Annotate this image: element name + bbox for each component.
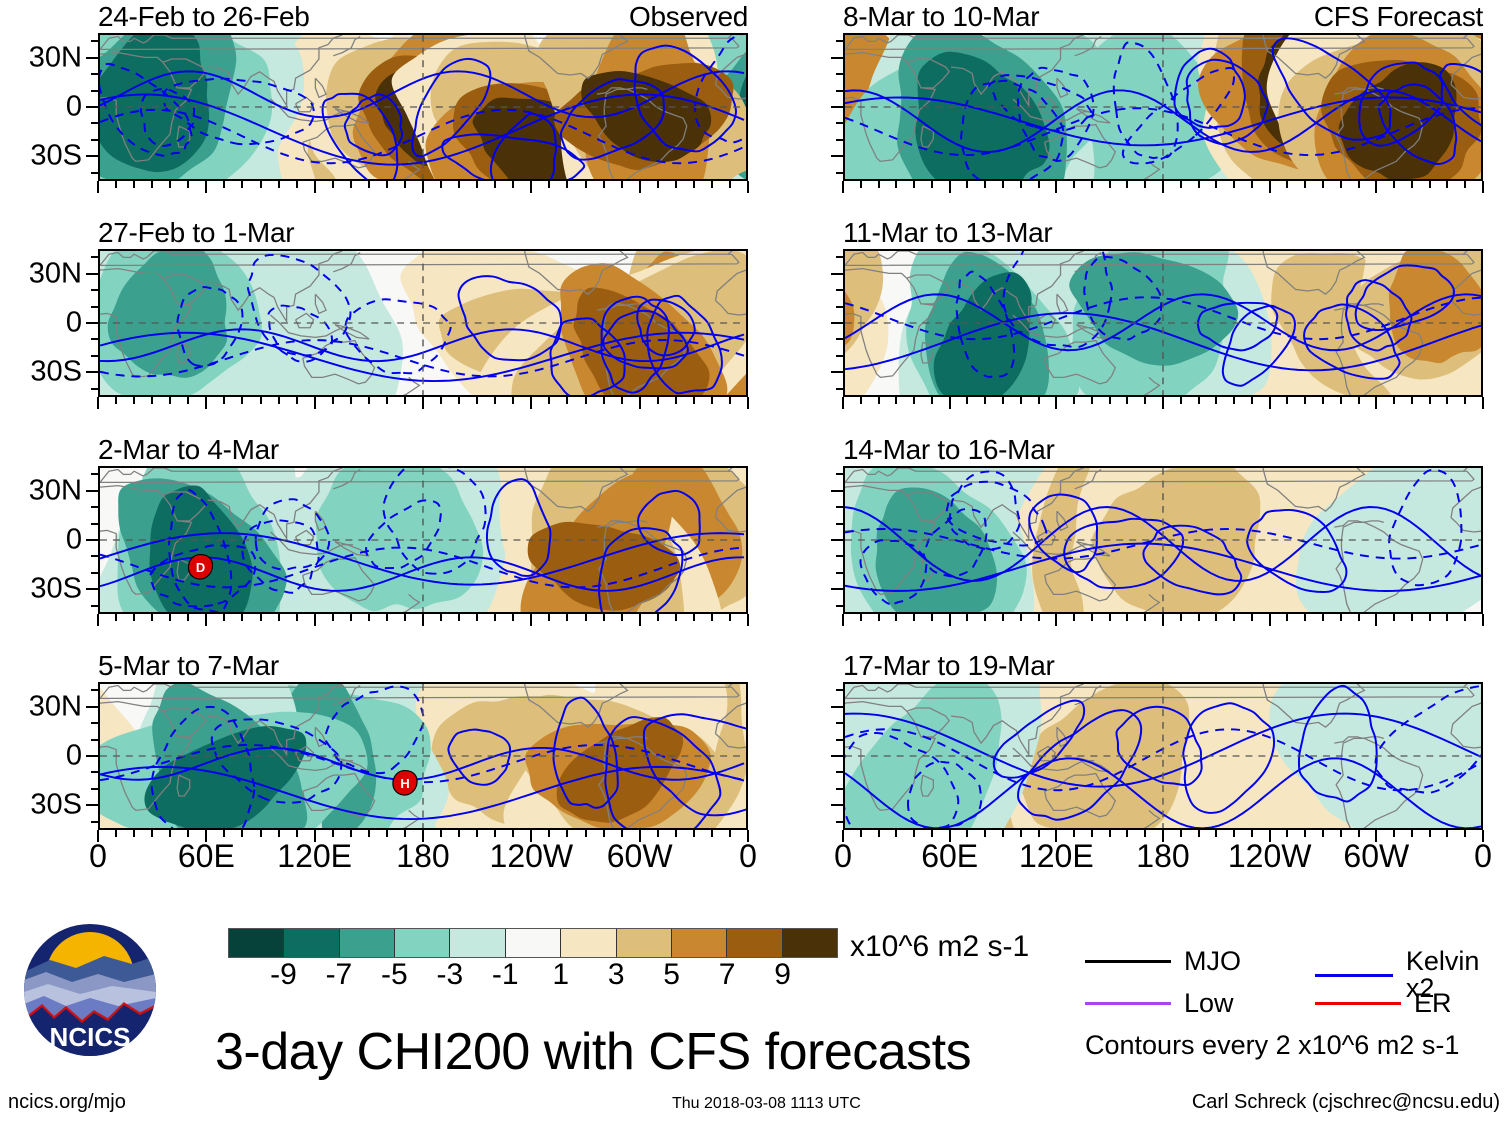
y-tick: [836, 572, 843, 574]
map-panel-fcst-1: 8-Mar to 10-MarCFS Forecast: [843, 33, 1483, 181]
y-axis-label: 30N: [29, 692, 82, 721]
x-tick: [1073, 830, 1075, 837]
x-tick: [1109, 614, 1111, 621]
x-tick: [639, 397, 641, 409]
x-tick: [314, 397, 316, 409]
x-tick: [350, 397, 352, 404]
x-tick: [278, 614, 280, 621]
x-tick: [603, 614, 605, 621]
x-tick: [1251, 397, 1253, 404]
y-tick: [86, 539, 98, 541]
x-tick: [386, 397, 388, 404]
y-tick: [91, 139, 98, 141]
y-tick: [91, 739, 98, 741]
x-tick: [675, 614, 677, 621]
x-tick: [1322, 830, 1324, 837]
x-tick: [639, 614, 641, 626]
x-tick: [931, 397, 933, 404]
x-tick: [1020, 181, 1022, 188]
x-tick: [404, 614, 406, 621]
x-tick: [1482, 397, 1484, 409]
x-tick: [422, 181, 424, 193]
x-tick: [332, 614, 334, 621]
y-axis-label: 30N: [29, 259, 82, 288]
x-tick: [1286, 397, 1288, 404]
x-tick: [1322, 397, 1324, 404]
x-tick: [241, 614, 243, 621]
x-tick: [1429, 397, 1431, 404]
y-tick: [86, 322, 98, 324]
y-tick: [91, 256, 98, 258]
x-tick: [1091, 397, 1093, 404]
x-tick: [693, 830, 695, 837]
colorbar-tick: -9: [270, 960, 297, 990]
x-tick: [966, 830, 968, 837]
x-tick: [657, 397, 659, 404]
x-tick: [1198, 830, 1200, 837]
colorbar-segment: [450, 929, 505, 957]
x-tick: [729, 614, 731, 621]
x-tick: [1251, 830, 1253, 837]
x-tick: [949, 614, 951, 626]
colorbar-tick-labels: -9-7-5-3-113579: [228, 958, 838, 992]
x-tick: [1482, 614, 1484, 626]
x-tick: [1304, 397, 1306, 404]
y-tick: [91, 122, 98, 124]
x-tick: [1091, 830, 1093, 837]
x-tick: [621, 614, 623, 621]
y-tick: [91, 771, 98, 773]
x-tick: [1375, 614, 1377, 626]
x-tick: [1322, 181, 1324, 188]
x-tick: [1340, 181, 1342, 188]
y-tick: [836, 289, 843, 291]
x-tick: [260, 830, 262, 837]
x-tick: [585, 614, 587, 621]
y-axis-label: 30S: [30, 142, 82, 171]
x-tick: [512, 397, 514, 404]
x-tick: [151, 614, 153, 621]
y-tick: [836, 122, 843, 124]
x-tick: [711, 830, 713, 837]
x-tick: [278, 397, 280, 404]
colorbar-tick: 5: [663, 960, 680, 990]
x-tick: [530, 181, 532, 193]
x-tick: [984, 614, 986, 621]
x-tick: [1233, 614, 1235, 621]
x-tick: [1233, 830, 1235, 837]
plot-area-fcst-1: [843, 33, 1483, 181]
x-axis-label: 180: [396, 840, 449, 872]
x-tick: [1109, 397, 1111, 404]
x-tick: [332, 181, 334, 188]
x-tick: [711, 397, 713, 404]
x-tick: [1162, 181, 1164, 193]
x-axis-label: 120E: [1019, 840, 1094, 872]
x-tick: [386, 830, 388, 837]
x-tick: [1286, 614, 1288, 621]
x-tick: [566, 830, 568, 837]
x-tick: [1304, 830, 1306, 837]
y-tick: [91, 821, 98, 823]
footer-timestamp: Thu 2018-03-08 1113 UTC: [672, 1096, 861, 1112]
y-tick: [91, 523, 98, 525]
x-tick: [1020, 830, 1022, 837]
x-axis-label: 60W: [607, 840, 673, 872]
x-tick: [187, 830, 189, 837]
page-title: 3-day CHI200 with CFS forecasts: [215, 1026, 971, 1078]
x-tick: [458, 181, 460, 188]
x-tick: [675, 830, 677, 837]
x-tick: [187, 397, 189, 404]
x-tick: [494, 181, 496, 188]
panel-title-fcst-1: 8-Mar to 10-Mar: [843, 2, 1039, 33]
panel-title-obs-3: 2-Mar to 4-Mar: [98, 435, 279, 466]
y-tick: [86, 755, 98, 757]
x-axis-label: 60W: [1343, 840, 1409, 872]
x-tick: [133, 614, 135, 621]
y-tick: [836, 256, 843, 258]
plot-area-fcst-2: [843, 249, 1483, 397]
x-tick: [913, 830, 915, 837]
x-tick: [878, 397, 880, 404]
x-tick: [1002, 614, 1004, 621]
y-tick: [836, 355, 843, 357]
plot-area-fcst-4: [843, 682, 1483, 830]
x-tick: [878, 181, 880, 188]
x-axis-label: 120W: [490, 840, 574, 872]
x-tick: [332, 397, 334, 404]
map-panel-obs-2: 27-Feb to 1-Mar30N030S: [98, 249, 748, 397]
x-tick: [115, 181, 117, 188]
y-tick: [86, 106, 98, 108]
x-tick: [1411, 830, 1413, 837]
x-tick: [404, 181, 406, 188]
y-tick: [831, 539, 843, 541]
y-tick: [86, 155, 98, 157]
x-tick: [747, 614, 749, 626]
x-tick: [1144, 830, 1146, 837]
x-tick: [1002, 397, 1004, 404]
x-tick: [1304, 181, 1306, 188]
x-tick: [241, 830, 243, 837]
x-tick: [842, 181, 844, 193]
y-tick: [91, 40, 98, 42]
map-panel-obs-1: 24-Feb to 26-FebObserved30N030S: [98, 33, 748, 181]
y-tick: [836, 821, 843, 823]
x-tick: [657, 830, 659, 837]
y-tick: [91, 172, 98, 174]
x-tick: [984, 397, 986, 404]
colorbar-tick: 3: [608, 960, 625, 990]
x-tick: [1002, 181, 1004, 188]
y-tick: [836, 605, 843, 607]
x-tick: [1375, 397, 1377, 409]
x-tick: [476, 830, 478, 837]
x-tick: [1269, 181, 1271, 193]
x-tick: [693, 614, 695, 621]
y-tick: [836, 172, 843, 174]
x-tick: [494, 830, 496, 837]
x-tick: [296, 614, 298, 621]
x-tick: [133, 181, 135, 188]
x-tick: [1180, 181, 1182, 188]
x-axis-label: 0: [739, 840, 757, 872]
logo-text: NCICS: [50, 1022, 131, 1052]
y-axis-label: 30S: [30, 791, 82, 820]
x-tick: [1233, 181, 1235, 188]
x-tick: [1038, 181, 1040, 188]
x-tick: [422, 397, 424, 409]
x-tick: [1233, 397, 1235, 404]
x-tick: [1464, 614, 1466, 621]
x-tick: [278, 830, 280, 837]
x-tick: [1038, 397, 1040, 404]
colorbar-strip: [228, 928, 838, 958]
x-tick: [260, 181, 262, 188]
y-tick: [831, 706, 843, 708]
x-tick: [368, 397, 370, 404]
x-tick: [241, 181, 243, 188]
x-tick: [169, 830, 171, 837]
y-tick: [86, 371, 98, 373]
x-tick: [1286, 830, 1288, 837]
panel-title-fcst-4: 17-Mar to 19-Mar: [843, 651, 1055, 682]
colorbar-units: x10^6 m2 s-1: [850, 932, 1029, 962]
x-tick: [1358, 614, 1360, 621]
x-tick: [966, 181, 968, 188]
x-tick: [548, 830, 550, 837]
x-tick: [1091, 181, 1093, 188]
y-axis-label: 30S: [30, 575, 82, 604]
x-tick: [187, 181, 189, 188]
y-tick: [831, 322, 843, 324]
legend-label-er: ER: [1414, 990, 1452, 1017]
x-tick: [169, 397, 171, 404]
x-tick: [1393, 181, 1395, 188]
x-tick: [241, 397, 243, 404]
y-tick: [91, 605, 98, 607]
x-tick: [931, 181, 933, 188]
x-tick: [1073, 397, 1075, 404]
colorbar-segment: [395, 929, 450, 957]
y-axis-label: 0: [66, 93, 82, 122]
colorbar-tick: -3: [436, 960, 463, 990]
y-tick: [836, 771, 843, 773]
x-tick: [1375, 181, 1377, 193]
colorbar-tick: -1: [492, 960, 519, 990]
x-tick: [187, 614, 189, 621]
footer-author: Carl Schreck (cjschrec@ncsu.edu): [1192, 1092, 1500, 1112]
x-tick: [1286, 181, 1288, 188]
x-tick: [97, 397, 99, 409]
y-tick: [91, 788, 98, 790]
x-tick: [1126, 397, 1128, 404]
y-tick: [91, 73, 98, 75]
er-line-swatch: [1315, 1002, 1401, 1005]
x-tick: [548, 181, 550, 188]
x-tick: [1126, 614, 1128, 621]
x-tick: [115, 614, 117, 621]
panel-title-obs-2: 27-Feb to 1-Mar: [98, 218, 294, 249]
x-tick: [440, 614, 442, 621]
x-tick: [115, 830, 117, 837]
x-tick: [895, 181, 897, 188]
colorbar-segment: [783, 929, 837, 957]
x-tick: [693, 181, 695, 188]
y-axis-label: 30N: [29, 476, 82, 505]
legend-label-low: Low: [1184, 990, 1234, 1017]
x-tick: [1109, 181, 1111, 188]
x-tick: [1109, 830, 1111, 837]
x-tick: [603, 397, 605, 404]
legend-item-mjo: MJO: [1085, 948, 1241, 975]
x-tick: [205, 614, 207, 626]
x-tick: [476, 397, 478, 404]
x-tick: [585, 397, 587, 404]
x-tick: [860, 397, 862, 404]
x-tick: [1429, 830, 1431, 837]
x-tick: [530, 614, 532, 626]
x-tick: [1269, 397, 1271, 409]
y-tick: [831, 57, 843, 59]
y-tick: [836, 473, 843, 475]
x-tick: [966, 614, 968, 621]
x-tick: [949, 181, 951, 193]
x-tick: [621, 830, 623, 837]
y-tick: [86, 273, 98, 275]
column-header-left: Observed: [629, 2, 748, 33]
x-tick: [350, 614, 352, 621]
y-tick: [836, 73, 843, 75]
y-tick: [836, 90, 843, 92]
y-tick: [831, 490, 843, 492]
y-tick: [831, 755, 843, 757]
y-tick: [86, 804, 98, 806]
x-tick: [1446, 181, 1448, 188]
x-tick: [585, 830, 587, 837]
x-axis-label: 120E: [277, 840, 352, 872]
x-tick: [1055, 614, 1057, 626]
x-tick: [133, 830, 135, 837]
mjo-chi200-figure: 24-Feb to 26-FebObserved30N030S27-Feb to…: [0, 0, 1510, 1121]
x-tick: [1144, 614, 1146, 621]
x-tick: [1446, 614, 1448, 621]
plot-area-fcst-3: [843, 466, 1483, 614]
x-tick: [1340, 614, 1342, 621]
x-tick: [878, 614, 880, 621]
x-tick: [895, 397, 897, 404]
y-tick: [831, 273, 843, 275]
low-line-swatch: [1085, 1002, 1171, 1005]
x-tick: [260, 614, 262, 621]
colorbar-tick: -5: [381, 960, 408, 990]
x-tick: [1180, 830, 1182, 837]
x-tick: [1126, 830, 1128, 837]
x-tick: [566, 397, 568, 404]
x-tick: [1198, 614, 1200, 621]
x-tick: [621, 181, 623, 188]
x-tick: [1251, 181, 1253, 188]
x-tick: [1162, 614, 1164, 626]
footer-website[interactable]: ncics.org/mjo: [8, 1092, 126, 1112]
x-tick: [913, 397, 915, 404]
x-tick: [1126, 181, 1128, 188]
x-tick: [151, 181, 153, 188]
x-axis-label: 0: [89, 840, 107, 872]
x-tick: [747, 181, 749, 193]
x-tick: [169, 181, 171, 188]
colorbar-segment: [284, 929, 339, 957]
x-tick: [368, 614, 370, 621]
x-axis-label: 180: [1136, 840, 1189, 872]
x-tick: [476, 181, 478, 188]
column-header-right: CFS Forecast: [1314, 2, 1483, 33]
x-tick: [931, 614, 933, 621]
x-tick: [585, 181, 587, 188]
x-tick: [657, 614, 659, 621]
x-tick: [1411, 397, 1413, 404]
x-tick: [97, 614, 99, 626]
x-tick: [1393, 614, 1395, 621]
x-tick: [1429, 614, 1431, 621]
y-tick: [91, 338, 98, 340]
ncics-logo[interactable]: NCICS: [20, 920, 160, 1060]
x-tick: [1393, 397, 1395, 404]
x-tick: [440, 830, 442, 837]
x-tick: [476, 614, 478, 621]
x-tick: [931, 830, 933, 837]
x-tick: [223, 181, 225, 188]
x-tick: [440, 181, 442, 188]
x-tick: [512, 614, 514, 621]
x-tick: [1411, 181, 1413, 188]
x-tick: [223, 397, 225, 404]
x-tick: [603, 181, 605, 188]
x-tick: [458, 397, 460, 404]
colorbar-segment: [561, 929, 616, 957]
x-tick: [895, 830, 897, 837]
plot-area-obs-1: [98, 33, 748, 181]
x-tick: [1482, 181, 1484, 193]
y-tick: [91, 388, 98, 390]
y-tick: [836, 555, 843, 557]
x-tick: [494, 397, 496, 404]
colorbar-segment: [672, 929, 727, 957]
x-tick: [729, 397, 731, 404]
y-tick: [86, 490, 98, 492]
y-tick: [836, 338, 843, 340]
x-tick: [494, 614, 496, 621]
x-tick: [860, 830, 862, 837]
x-tick: [1429, 181, 1431, 188]
mjo-line-swatch: [1085, 960, 1171, 963]
x-tick: [1020, 614, 1022, 621]
x-tick: [1358, 397, 1360, 404]
y-tick: [836, 139, 843, 141]
legend-item-low: Low: [1085, 990, 1234, 1017]
y-tick: [91, 722, 98, 724]
plot-area-obs-2: [98, 249, 748, 397]
x-tick: [1180, 614, 1182, 621]
y-tick: [836, 722, 843, 724]
x-tick: [1358, 830, 1360, 837]
y-axis-label: 0: [66, 526, 82, 555]
x-tick: [984, 830, 986, 837]
x-tick: [878, 830, 880, 837]
svg-text:D: D: [196, 560, 205, 575]
x-tick: [1198, 397, 1200, 404]
